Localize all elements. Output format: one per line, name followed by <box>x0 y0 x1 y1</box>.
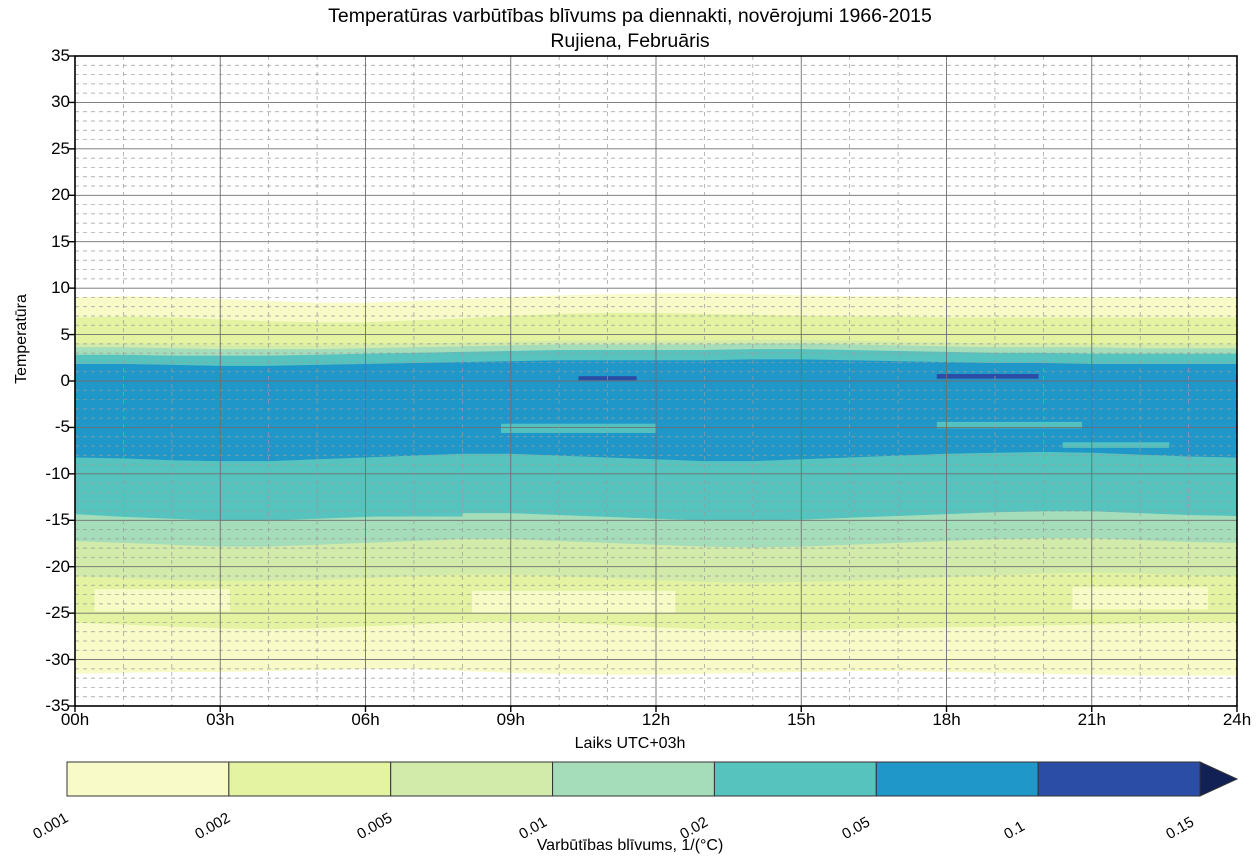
chart-page: Temperatūras varbūtības blīvums pa dienn… <box>0 0 1260 868</box>
contour-plot <box>0 0 1260 868</box>
